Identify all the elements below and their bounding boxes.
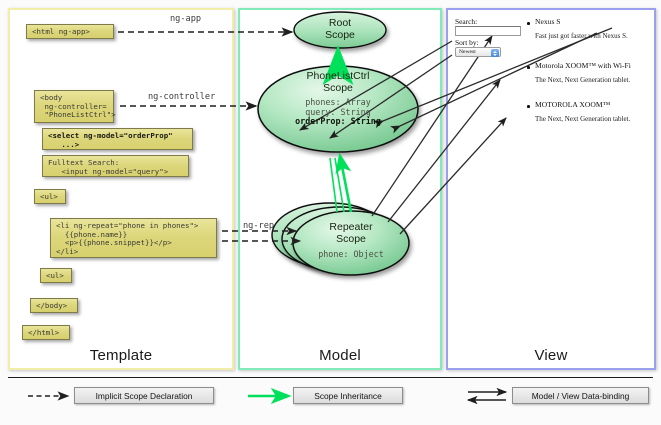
phone-bullet: [527, 105, 530, 108]
phone-snippet: Fast just got faster with Nexus S.: [535, 32, 628, 40]
code-box-html-close: </html>: [22, 325, 70, 340]
stepper-icon[interactable]: [491, 49, 499, 57]
sort-by-selected-value: Newest: [459, 49, 476, 55]
view-search-label: Search:: [455, 17, 477, 26]
phone-bullet: [527, 22, 530, 25]
panel-view-title: View: [448, 347, 654, 364]
view-sort-label: Sort by:: [455, 38, 479, 47]
phone-name: Motorola XOOM™ with Wi-Fi: [535, 61, 631, 70]
phone-bullet: [527, 66, 530, 69]
code-box-ul-close: <ul>: [40, 268, 72, 283]
legend-model-view-data-binding: Model / View Data-binding: [512, 387, 649, 404]
phone-name: MOTOROLA XOOM™: [535, 100, 610, 109]
panel-model: Model: [238, 8, 442, 370]
phone-snippet: The Next, Next Generation tablet.: [535, 115, 630, 123]
panel-template-title: Template: [10, 347, 232, 364]
edge-label-ng-app: ng-app: [170, 14, 201, 24]
panel-model-title: Model: [240, 347, 440, 364]
legend-arrow-double: [468, 392, 506, 400]
legend-divider: [8, 377, 653, 378]
edge-label-ng-repeat: ng-repeat: [243, 221, 290, 231]
code-box-ul-open: <ul>: [34, 189, 66, 204]
legend-scope-inheritance: Scope Inheritance: [293, 387, 403, 404]
code-box-li-repeat: <li ng-repeat="phone in phones"> {{phone…: [50, 218, 217, 258]
phone-snippet: The Next, Next Generation tablet.: [535, 76, 630, 84]
code-box-body-close: </body>: [30, 298, 78, 313]
code-box-select: <select ng-model="orderProp" ...>: [42, 128, 193, 150]
search-input[interactable]: [455, 26, 521, 36]
legend-implicit-scope-declaration: Implicit Scope Declaration: [74, 387, 214, 404]
code-box-body-open: <body ng-controller= "PhoneListCtrl">: [34, 90, 114, 123]
code-box-html-open: <html ng-app>: [26, 24, 114, 39]
sort-by-select[interactable]: Newest: [455, 47, 501, 57]
edge-label-ng-controller: ng-controller: [148, 92, 215, 102]
code-box-input: Fulltext Search: <input ng-model="query"…: [42, 155, 189, 177]
diagram-canvas: Template Model View <html ng-app> <body …: [0, 0, 661, 425]
phone-name: Nexus S: [535, 17, 561, 26]
